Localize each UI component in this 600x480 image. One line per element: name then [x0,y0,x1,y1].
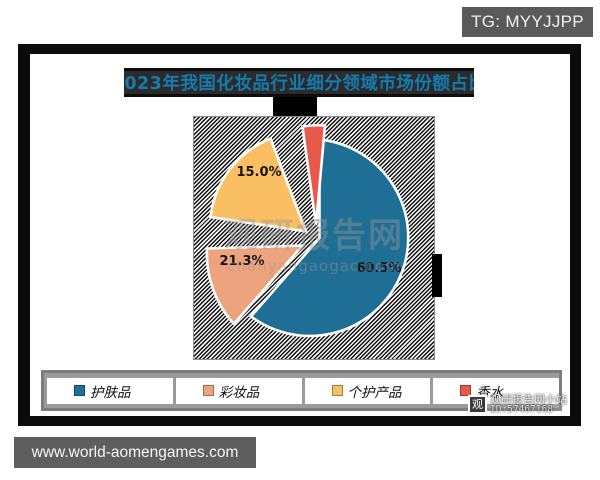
chart-canvas: 2023年我国化妆品行业细分领域市场份额占比 [30,54,570,416]
artifact-block-right [432,254,442,297]
pie-label-彩妆品: 21.3% [219,254,264,269]
artifact-block-top [273,97,317,118]
tg-badge: TG: MYYJJPP [462,7,593,37]
legend-label-1: 彩妆品 [219,381,260,401]
pie-label-护肤品: 60.5% [356,261,401,276]
pie-label-个护产品: 15.0% [236,165,281,180]
legend-swatch-icon-2 [332,385,343,396]
pie-chart-svg: 60.5% 21.3% 15.0% [194,117,434,359]
legend-item-彩妆品[interactable]: 彩妆品 [176,378,302,404]
site-logo-icon: 观 [468,395,487,414]
chart-title-band: 2023年我国化妆品行业细分领域市场份额占比 [124,68,474,97]
site-watermark: 观 观研报告网小站 ID:57467168 [468,394,567,415]
page-title: 2023年我国化妆品行业细分领域市场份额占比 [124,70,474,95]
screenshot-root: TG: MYYJJPP 2023年我国化妆品行业细分领域市场份额占比 [0,0,600,480]
site-id: ID:57467168 [490,405,567,415]
legend-swatch-icon-1 [203,385,214,396]
legend-item-护肤品[interactable]: 护肤品 [47,378,173,404]
site-watermark-text: 观研报告网小站 ID:57467168 [490,394,567,415]
pie-plot-area: 60.5% 21.3% 15.0% 观研报告网 chanyangaogao.co… [193,116,435,360]
chart-frame: 2023年我国化妆品行业细分领域市场份额占比 [18,44,581,426]
legend-swatch-icon-0 [74,385,85,396]
legend-item-个护产品[interactable]: 个护产品 [305,378,431,404]
url-badge: www.world-aomengames.com [14,437,256,468]
pie-slice-个护产品[interactable] [211,139,307,232]
legend-label-0: 护肤品 [90,381,131,401]
legend-label-2: 个护产品 [348,381,402,401]
